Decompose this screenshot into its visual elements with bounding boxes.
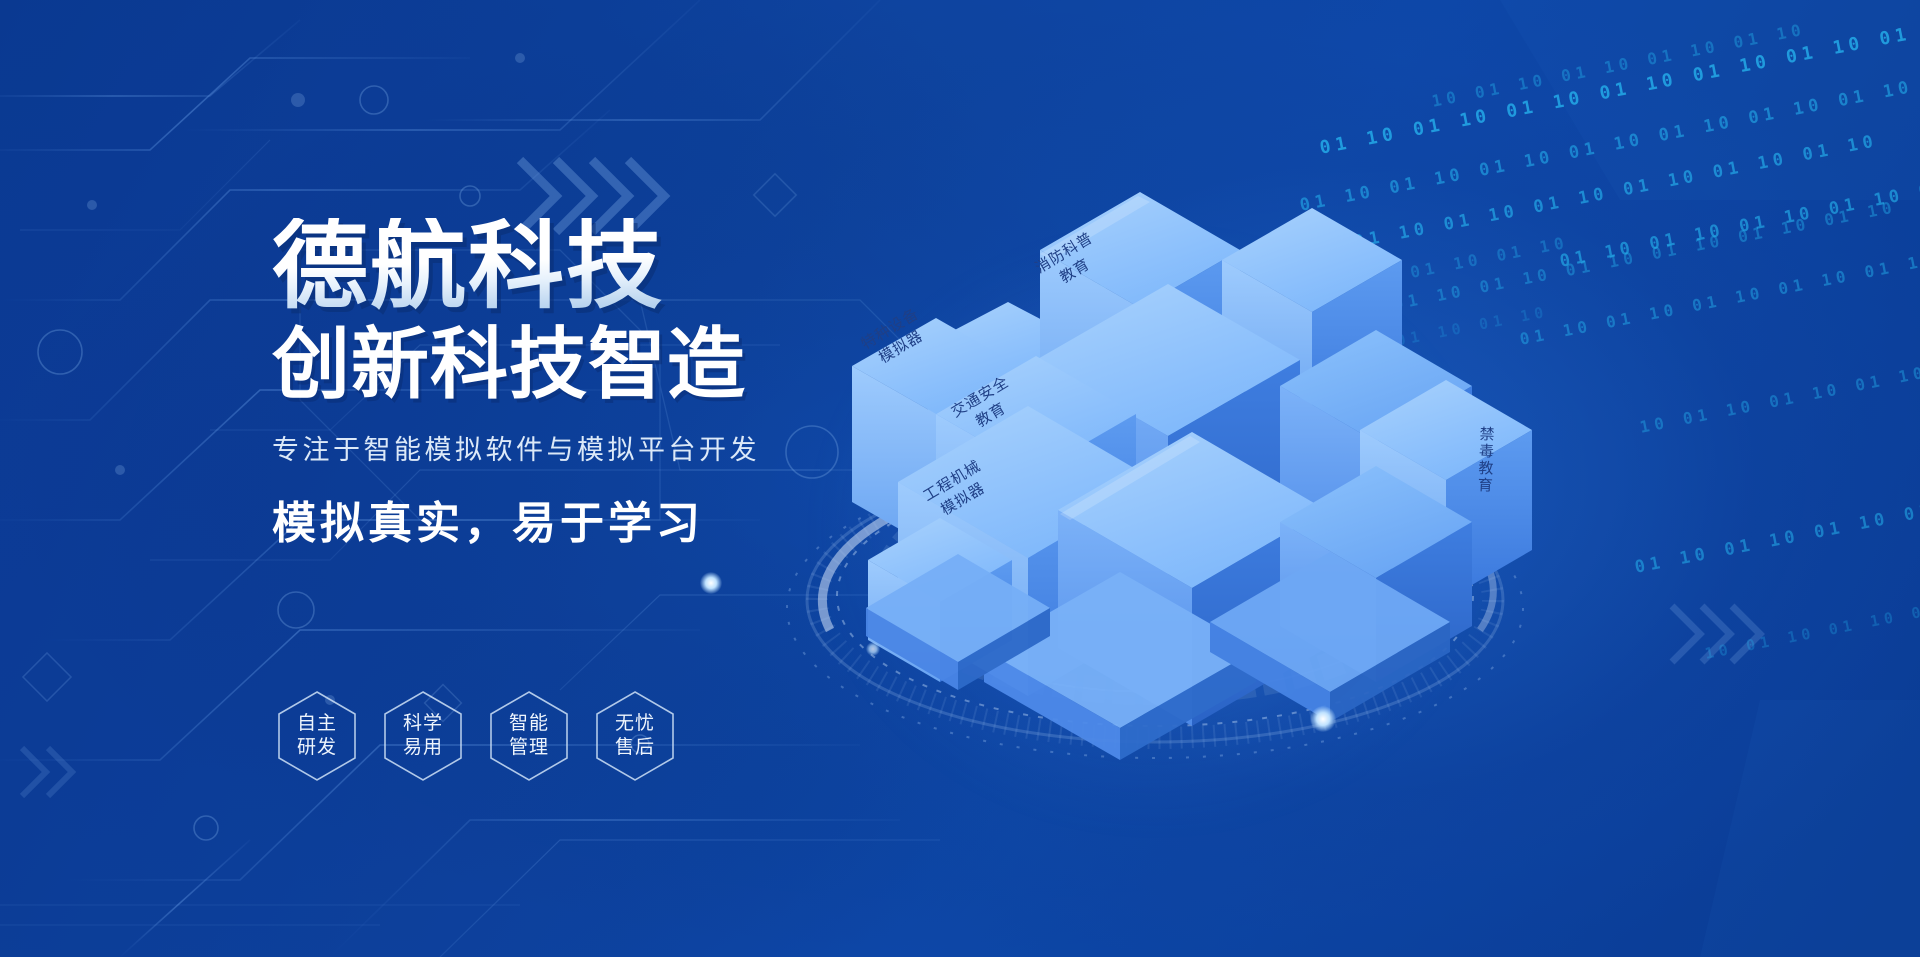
- binary-row: 01 10 01 10 01 10 01 10 01 10 01 10 01 1…: [1518, 182, 1920, 349]
- cube-stack-graphic: [740, 130, 1570, 850]
- binary-row: 10 01 10 01 10 01 10 01 10: [1638, 346, 1920, 437]
- badge-label: 智能管理: [506, 712, 552, 761]
- hero-banner: 01 10 01 10 01 10 01 10 01 10 01 10 01 1…: [0, 0, 1920, 957]
- badge-scientific-easy[interactable]: 科学易用: [382, 690, 464, 782]
- binary-row: 01 10 01 10 01 10 01 10 01 10 01 10 01 1…: [1633, 404, 1920, 578]
- badge-independent-rd[interactable]: 自主研发: [276, 690, 358, 782]
- binary-row: 01 10 01 10 01 10 01 10 01 10 01 10 01 1…: [1558, 98, 1920, 272]
- badge-label: 无忧售后: [612, 712, 658, 761]
- binary-row: 10 01 10 01 10 01 10 01 10: [1430, 20, 1807, 111]
- binary-row: 10 01 10 01 10 01 10 01 10: [1703, 576, 1920, 663]
- badge-label: 自主研发: [294, 712, 340, 761]
- isometric-cube-illustration: 消防科普 教育 特种设备 模拟器 交通安全 教育 工程机械 模拟器 禁毒教育: [740, 130, 1570, 850]
- badge-smart-management[interactable]: 智能管理: [488, 690, 570, 782]
- badge-label: 科学易用: [400, 712, 446, 761]
- feature-badge-row: 自主研发 科学易用 智能管理 无忧售后: [276, 690, 676, 782]
- badge-worry-free-support[interactable]: 无忧售后: [594, 690, 676, 782]
- glow-accent: [700, 572, 722, 594]
